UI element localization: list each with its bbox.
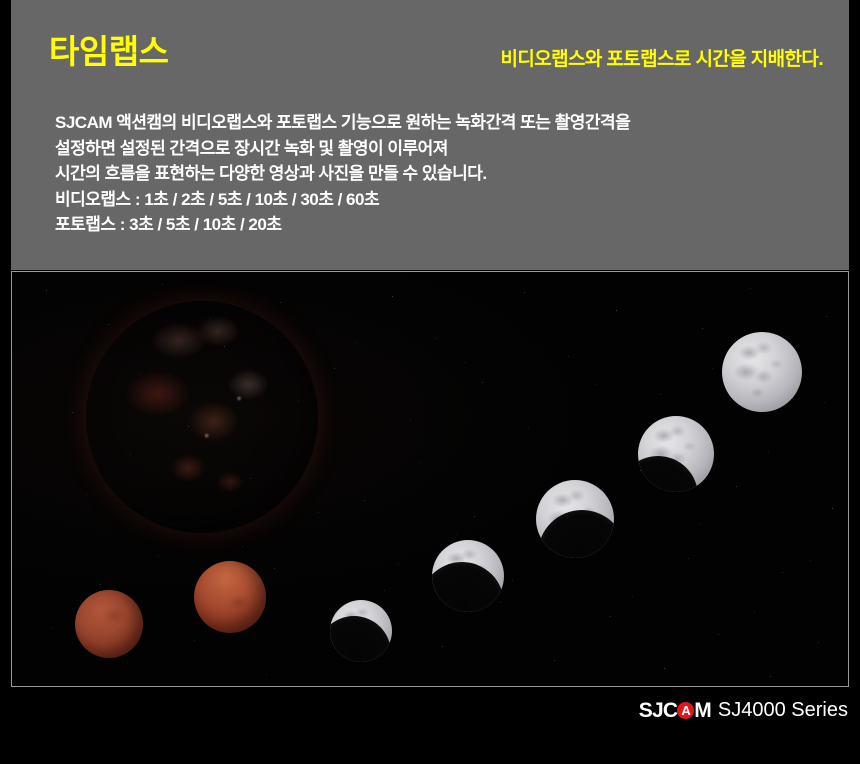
moon-surface-craters	[722, 332, 802, 412]
product-series-label: SJ4000 Series	[718, 700, 848, 721]
sjcam-branding: SJC A M SJ4000 Series	[639, 700, 848, 721]
sjcam-logo: SJC A M	[639, 700, 711, 721]
red-moon-small-a	[75, 590, 143, 658]
partial-moon-4	[638, 416, 714, 492]
text-panel: 타임랩스 비디오랩스와 포토랩스로 시간을 지배한다. SJCAM 액션캠의 비…	[11, 0, 849, 270]
videolapse-intervals-line: 비디오랩스 : 1초 / 2초 / 5초 / 10초 / 30초 / 60초	[55, 187, 835, 213]
description-line: 시간의 흐름을 표현하는 다양한 영상과 사진을 만들 수 있습니다.	[55, 161, 835, 187]
partial-moon-3	[536, 480, 614, 558]
partial-moon-2	[432, 540, 504, 612]
blood-moon-totality	[86, 301, 318, 533]
partial-moon-1	[330, 600, 392, 662]
logo-a-letter: A	[677, 702, 694, 719]
brand-bar: SJC A M SJ4000 Series	[0, 688, 860, 764]
tagline: 비디오랩스와 포토랩스로 시간을 지배한다.	[441, 44, 823, 71]
logo-text-pre: SJC	[639, 700, 677, 721]
starfield-faint	[12, 272, 13, 273]
description-line: 설정하면 설정된 간격으로 장시간 녹화 및 촬영이 이루어져	[55, 136, 835, 162]
eclipse-photo	[11, 271, 849, 687]
red-moon-small-b	[194, 561, 266, 633]
moon-surface-craters	[86, 301, 318, 533]
photolapse-intervals-line: 포토랩스 : 3초 / 5초 / 10초 / 20초	[55, 212, 835, 238]
logo-text-post: M	[694, 700, 711, 721]
description-block: SJCAM 액션캠의 비디오랩스와 포토랩스 기능으로 원하는 녹화간격 또는 …	[55, 110, 835, 238]
slide-root: 타임랩스 비디오랩스와 포토랩스로 시간을 지배한다. SJCAM 액션캠의 비…	[0, 0, 860, 764]
moon-surface-craters	[75, 590, 143, 658]
full-moon	[722, 332, 802, 412]
page-title: 타임랩스	[49, 32, 168, 72]
moon-surface-craters	[194, 561, 266, 633]
description-line: SJCAM 액션캠의 비디오랩스와 포토랩스 기능으로 원하는 녹화간격 또는 …	[55, 110, 835, 136]
logo-a-circle-icon: A	[677, 702, 694, 719]
